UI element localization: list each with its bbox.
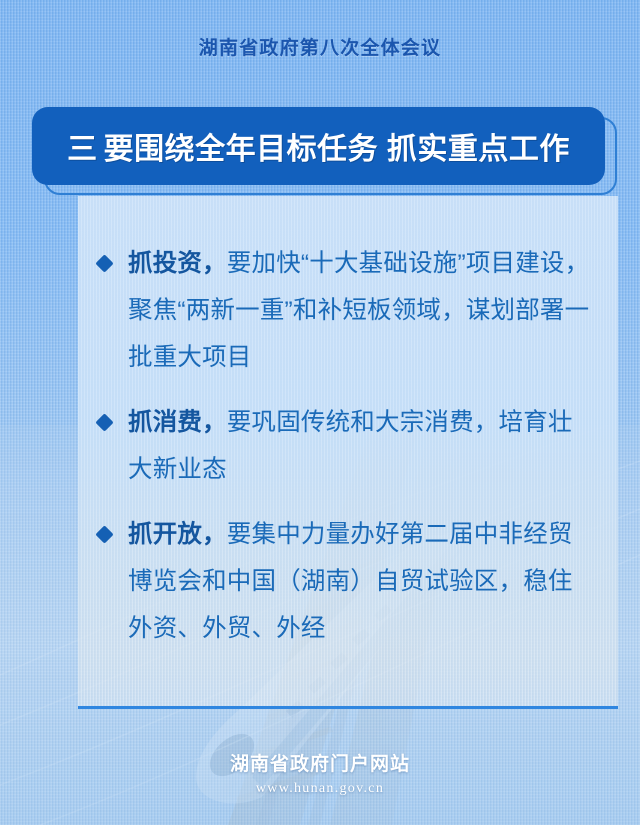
list-item: 抓投资，要加快“十大基础设施”项目建设，聚焦“两新一重”和补短板领域，谋划部署一… (96, 240, 592, 381)
bullet-lead-text: 抓消费， (128, 409, 227, 436)
poster-header: 湖南省政府第八次全体会议 (0, 0, 640, 92)
poster-root: 湖南省政府第八次全体会议 三 要围绕全年目标任务 抓实重点工作 抓投资，要加快“… (0, 0, 640, 825)
footer-site-url: www.hunan.gov.cn (0, 781, 640, 797)
banner-plate: 三 要围绕全年目标任务 抓实重点工作 (32, 107, 605, 185)
poster-footer: 湖南省政府门户网站 www.hunan.gov.cn (0, 749, 640, 797)
diamond-bullet-icon (95, 254, 113, 272)
section-banner: 三 要围绕全年目标任务 抓实重点工作 (32, 107, 617, 195)
list-item: 抓开放，要集中力量办好第二届中非经贸博览会和中国（湖南）自贸试验区，稳住外资、外… (96, 511, 592, 652)
banner-title-text: 要围绕全年目标任务 抓实重点工作 (104, 124, 570, 168)
banner-index-number: 三 (67, 124, 98, 168)
header-title: 湖南省政府第八次全体会议 (199, 33, 441, 60)
footer-site-name: 湖南省政府门户网站 (0, 749, 640, 776)
diamond-bullet-icon (95, 413, 113, 431)
bullet-lead-text: 抓投资， (128, 250, 227, 277)
bullet-lead-text: 抓开放， (128, 521, 227, 548)
content-card: 抓投资，要加快“十大基础设施”项目建设，聚焦“两新一重”和补短板领域，谋划部署一… (78, 196, 618, 709)
bullet-list: 抓投资，要加快“十大基础设施”项目建设，聚焦“两新一重”和补短板领域，谋划部署一… (96, 240, 592, 652)
diamond-bullet-icon (95, 525, 113, 543)
list-item: 抓消费，要巩固传统和大宗消费，培育壮大新业态 (96, 399, 592, 493)
